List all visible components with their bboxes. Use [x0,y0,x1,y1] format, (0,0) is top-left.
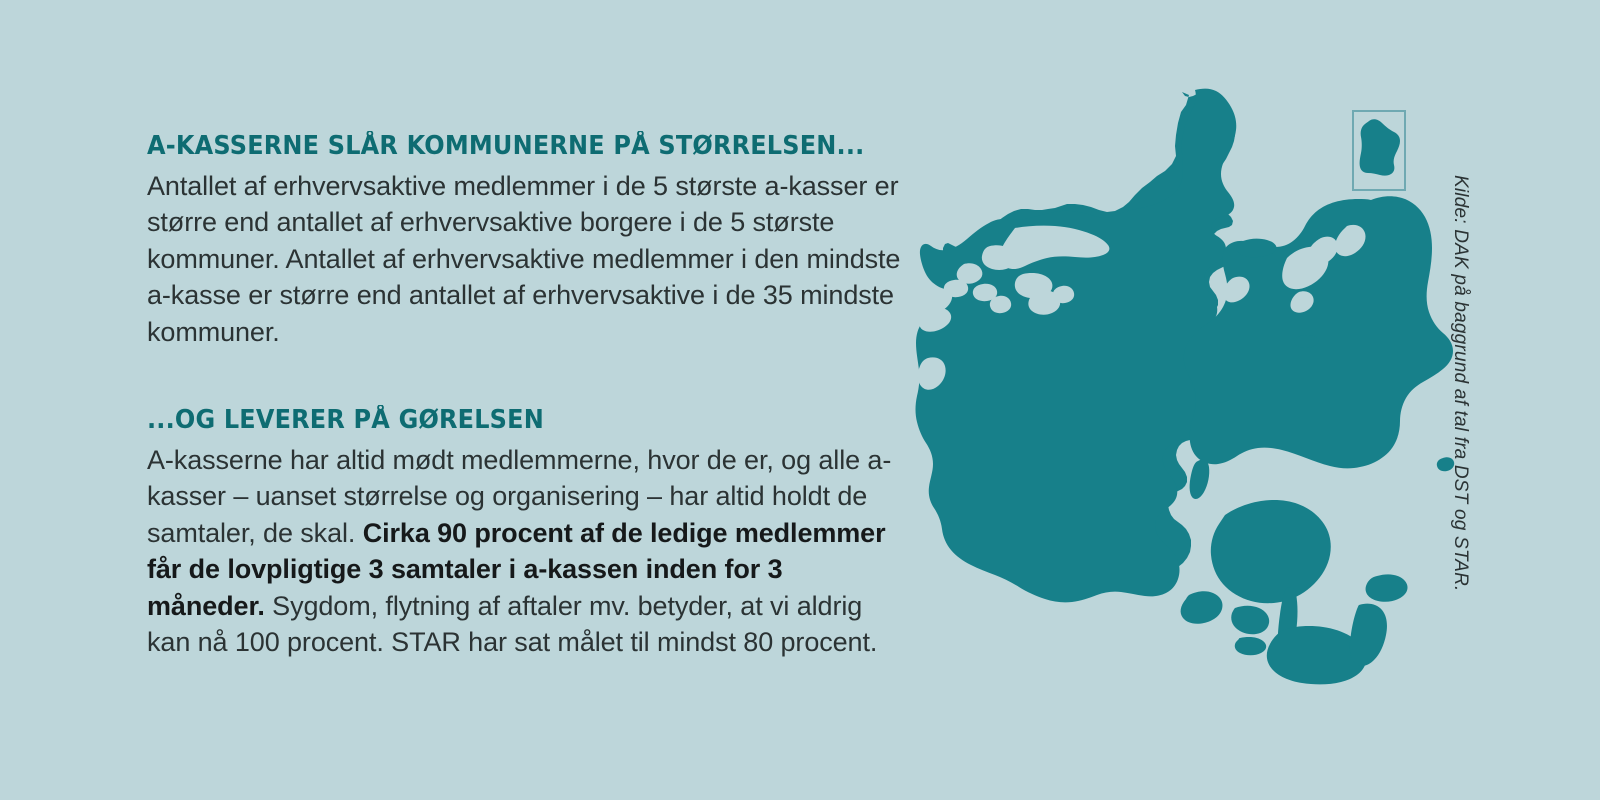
section-1-body: Antallet af erhvervsaktive medlemmer i d… [147,168,907,351]
section-1-body-lead: Antallet af erhvervsaktive medlemmer i d… [147,171,900,347]
section-2-body: A-kasserne har altid mødt medlemmerne, h… [147,442,907,661]
source-note: Kilde: DAK på baggrund af tal fra DST og… [1451,175,1470,615]
section-block-1: A-KASSERNE SLÅR KOMMUNERNE PÅ STØRRELSEN… [147,132,907,350]
moen-island [1366,574,1408,601]
text-column: A-KASSERNE SLÅR KOMMUNERNE PÅ STØRRELSEN… [147,132,907,661]
bornholm-island [1360,119,1400,175]
infographic-canvas: A-KASSERNE SLÅR KOMMUNERNE PÅ STØRRELSEN… [0,0,1600,800]
section-1-heading: A-KASSERNE SLÅR KOMMUNERNE PÅ STØRRELSEN… [147,132,861,161]
section-2-heading: ...OG LEVERER PÅ GØRELSEN [147,406,861,435]
funen-island [1211,500,1331,603]
section-block-2: ...OG LEVERER PÅ GØRELSEN A-kasserne har… [147,406,907,661]
zealand-island [1184,196,1453,468]
als-island [1181,591,1223,624]
falster-island [1350,604,1387,666]
aeroe-island [1235,637,1266,655]
denmark-map [895,78,1465,708]
samsoe-island [1190,460,1210,499]
funen-southern-isles [1231,606,1269,635]
